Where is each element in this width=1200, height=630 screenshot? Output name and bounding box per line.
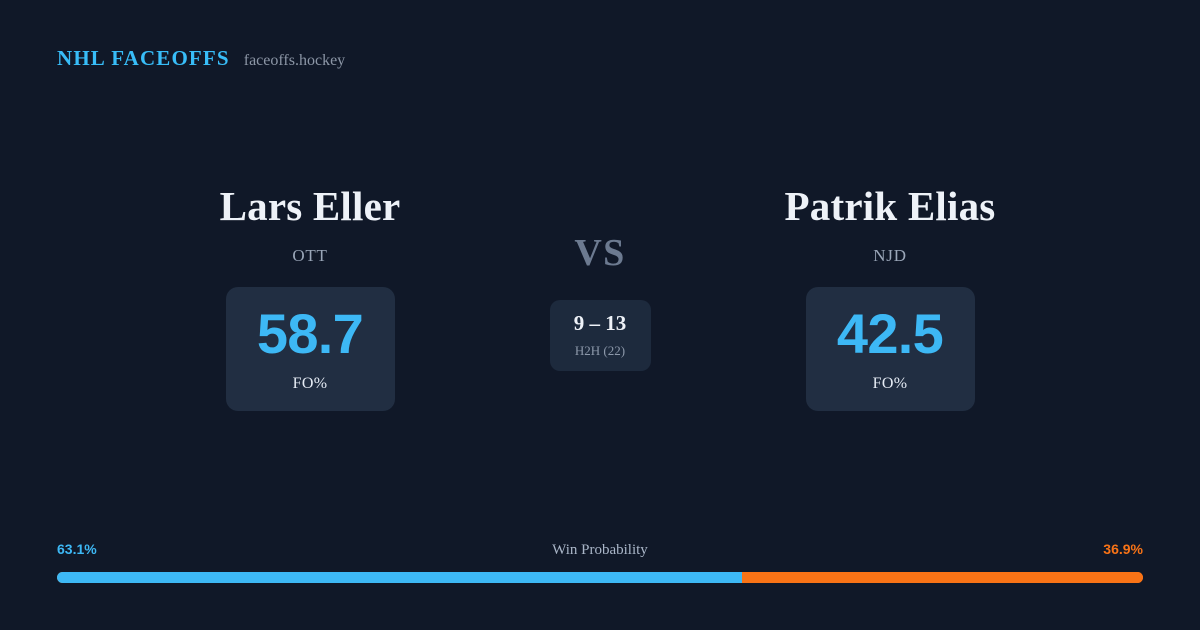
player-left-team: OTT xyxy=(292,246,327,266)
player-left-stat-card: 58.7 FO% xyxy=(226,287,395,411)
site-header: NHL FACEOFFS faceoffs.hockey xyxy=(57,46,345,71)
head-to-head-record: 9 – 13 xyxy=(574,313,627,334)
head-to-head-card: 9 – 13 H2H (22) xyxy=(550,300,651,371)
player-left-stat-label: FO% xyxy=(293,375,328,393)
player-right-name: Patrik Elias xyxy=(785,186,996,227)
player-left: Lars Eller OTT 58.7 FO% xyxy=(120,186,500,411)
player-right-team: NJD xyxy=(873,246,906,266)
win-probability-right-value: 36.9% xyxy=(1103,541,1143,557)
win-probability-title: Win Probability xyxy=(57,542,1143,559)
win-probability-bar-left xyxy=(57,572,742,583)
player-right-faceoff-percent: 42.5 xyxy=(837,306,943,362)
win-probability-labels: 63.1% Win Probability 36.9% xyxy=(57,541,1143,563)
brand-domain: faceoffs.hockey xyxy=(244,52,345,70)
brand-logo: NHL FACEOFFS xyxy=(57,46,230,71)
win-probability-bar-right xyxy=(742,572,1143,583)
matchup-row: Lars Eller OTT 58.7 FO% VS 9 – 13 H2H (2… xyxy=(0,186,1200,411)
versus-label: VS xyxy=(574,234,625,272)
player-left-faceoff-percent: 58.7 xyxy=(257,306,363,362)
win-probability-section: 63.1% Win Probability 36.9% xyxy=(57,541,1143,583)
player-right-stat-label: FO% xyxy=(873,375,908,393)
head-to-head-label: H2H (22) xyxy=(575,343,625,359)
versus-column: VS 9 – 13 H2H (22) xyxy=(500,186,700,371)
player-right-stat-card: 42.5 FO% xyxy=(806,287,975,411)
faceoff-matchup-card: NHL FACEOFFS faceoffs.hockey Lars Eller … xyxy=(0,0,1200,630)
win-probability-bar xyxy=(57,572,1143,583)
player-left-name: Lars Eller xyxy=(220,186,401,227)
player-right: Patrik Elias NJD 42.5 FO% xyxy=(700,186,1080,411)
